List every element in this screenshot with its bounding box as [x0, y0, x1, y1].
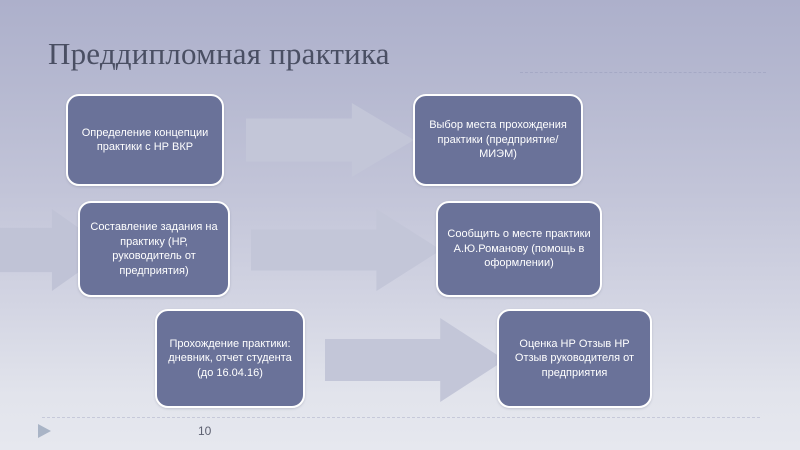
- slide-canvas: Преддипломная практика Определение конце…: [0, 0, 800, 450]
- arrow-3-right-icon: [251, 209, 441, 291]
- arrow-4-right-icon: [325, 318, 505, 402]
- title-underline-divider: [520, 72, 766, 74]
- process-step-6[interactable]: Оценка НР Отзыв НР Отзыв руководителя от…: [497, 309, 652, 408]
- page-title: Преддипломная практика: [48, 34, 390, 74]
- page-number: 10: [198, 424, 211, 438]
- process-step-6-label: Оценка НР Отзыв НР Отзыв руководителя от…: [506, 337, 643, 381]
- process-step-3-label: Составление задания на практику (НР, рук…: [87, 220, 221, 278]
- process-step-5[interactable]: Прохождение практики: дневник, отчет сту…: [155, 309, 305, 408]
- footer-divider: [42, 417, 760, 419]
- process-step-5-label: Прохождение практики: дневник, отчет сту…: [164, 337, 296, 381]
- process-step-4[interactable]: Сообщить о месте практики А.Ю.Романову (…: [436, 201, 602, 297]
- process-step-2-label: Выбор места прохождения практики (предпр…: [422, 118, 574, 162]
- process-step-1[interactable]: Определение концепции практики с НР ВКР: [66, 94, 224, 186]
- process-step-3[interactable]: Составление задания на практику (НР, рук…: [78, 201, 230, 297]
- process-step-1-label: Определение концепции практики с НР ВКР: [75, 126, 215, 155]
- arrow-1-right-icon: [246, 103, 414, 177]
- process-step-2[interactable]: Выбор места прохождения практики (предпр…: [413, 94, 583, 186]
- process-step-4-label: Сообщить о месте практики А.Ю.Романову (…: [445, 227, 593, 271]
- play-triangle-icon: [38, 424, 51, 438]
